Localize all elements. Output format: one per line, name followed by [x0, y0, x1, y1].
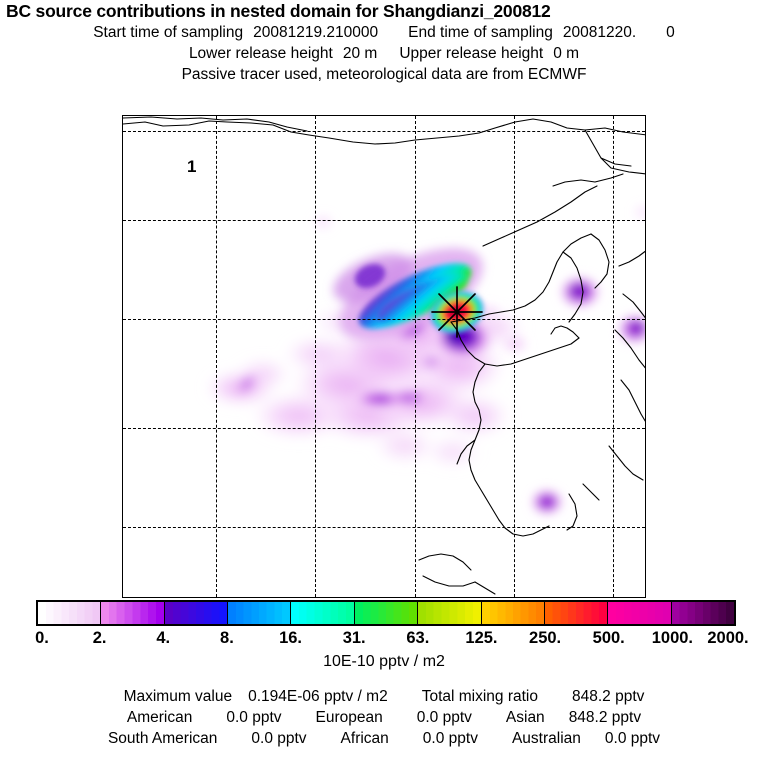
colorbar-tick-label: 2000.: [707, 628, 748, 648]
lower-release-label: Lower release height: [189, 45, 333, 62]
region-value: 0.0 pptv: [251, 730, 306, 747]
upper-release-label: Upper release height: [399, 45, 543, 62]
header-block: BC source contributions in nested domain…: [0, 0, 768, 85]
region-value: 848.2 pptv: [569, 709, 641, 726]
region-value: 0.0 pptv: [423, 730, 478, 747]
region-value: 0.0 pptv: [417, 709, 472, 726]
region-label: European: [316, 709, 383, 726]
colorbar-tick-label: 16.: [279, 628, 302, 648]
region-label: Asian: [506, 709, 545, 726]
total-mixing-ratio-value: 848.2 pptv: [572, 688, 644, 705]
maximum-value-label: Maximum value: [124, 688, 233, 705]
colorbar-tick-label: 0.: [35, 628, 49, 648]
maximum-value: 0.194E-06 pptv / m2: [248, 688, 388, 705]
colorbar-tick-label: 8.: [220, 628, 234, 648]
region-value: 0.0 pptv: [605, 730, 660, 747]
colorbar-tick-label: 2.: [93, 628, 107, 648]
colorbar-band: [481, 602, 544, 624]
colorbar-bands: [36, 600, 736, 626]
colorbar-tick-label: 250.: [529, 628, 561, 648]
colorbar-band: [38, 602, 100, 624]
colorbar-band: [164, 602, 227, 624]
region-value: 0.0 pptv: [226, 709, 281, 726]
colorbar-band: [100, 602, 163, 624]
total-mixing-ratio-label: Total mixing ratio: [422, 688, 538, 705]
colorbar-band: [607, 602, 670, 624]
colorbar-band: [354, 602, 417, 624]
region-row-2: South American0.0 pptvAfrican0.0 pptvAus…: [0, 728, 768, 749]
colorbar-band: [544, 602, 607, 624]
sampling-time-line: Start time of sampling20081219.210000End…: [0, 22, 768, 43]
colorbar-band: [671, 602, 734, 624]
colorbar-tick-label: 63.: [406, 628, 429, 648]
end-time-value-2: 0: [666, 24, 675, 41]
colorbar-band: [227, 602, 290, 624]
colorbar-unit-label: 10E-10 pptv / m2: [0, 652, 768, 672]
colorbar-tick-label: 4.: [156, 628, 170, 648]
region-label: Australian: [512, 730, 581, 747]
tracer-note: Passive tracer used, meteorological data…: [0, 64, 768, 85]
colorbar-band: [290, 602, 353, 624]
region-label: American: [127, 709, 192, 726]
release-height-line: Lower release height20 mUpper release he…: [0, 43, 768, 64]
footer-statistics: Maximum value0.194E-06 pptv / m2Total mi…: [0, 686, 768, 749]
max-and-total-line: Maximum value0.194E-06 pptv / m2Total mi…: [0, 686, 768, 707]
end-time-label: End time of sampling: [408, 24, 553, 41]
upper-release-value: 0 m: [553, 45, 579, 62]
colorbar: [36, 600, 736, 626]
region-label: South American: [108, 730, 217, 747]
domain-number-label: 1: [187, 157, 196, 177]
colorbar-band: [417, 602, 480, 624]
colorbar-tick-label: 125.: [465, 628, 497, 648]
region-row-1: American0.0 pptvEuropean0.0 pptvAsian848…: [0, 707, 768, 728]
colorbar-tick-label: 500.: [593, 628, 625, 648]
colorbar-tick-label: 31.: [343, 628, 366, 648]
colorbar-tick-label: 1000.: [652, 628, 693, 648]
start-time-label: Start time of sampling: [93, 24, 243, 41]
start-time-value: 20081219.210000: [253, 24, 378, 41]
end-time-value: 20081220.: [563, 24, 636, 41]
lower-release-value: 20 m: [343, 45, 377, 62]
map-plot-area: 1: [122, 115, 646, 598]
region-label: African: [341, 730, 389, 747]
colorbar-tick-labels: 0.2.4.8.16.31.63.125.250.500.1000.2000.: [0, 628, 768, 648]
page-title: BC source contributions in nested domain…: [0, 0, 768, 22]
